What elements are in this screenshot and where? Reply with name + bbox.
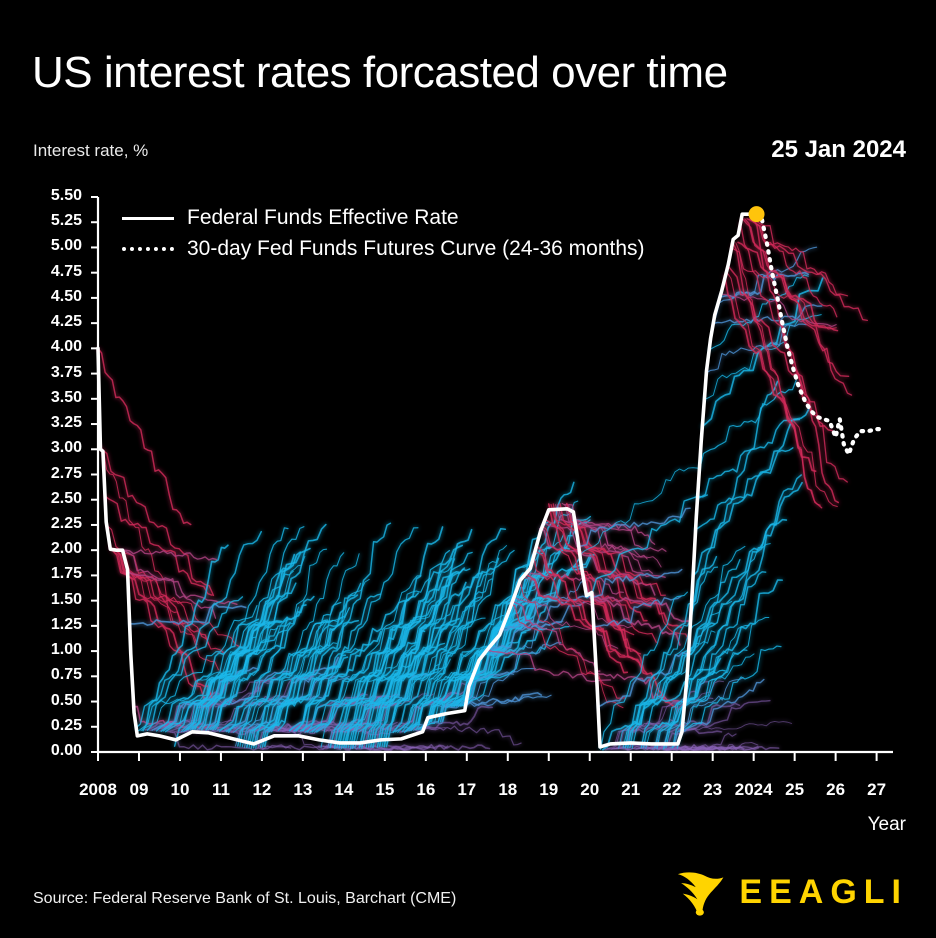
y-tick-label: 1.50 (30, 591, 82, 609)
legend-dotted-line-icon (122, 247, 174, 251)
legend-solid-line-icon (122, 217, 174, 220)
chart-legend: Federal Funds Effective Rate 30-day Fed … (122, 206, 645, 261)
brand-lockup: EEAGLI (673, 866, 908, 918)
y-tick-label: 2.25 (30, 515, 82, 533)
brand-name: EEAGLI (739, 875, 908, 909)
chart-page: US interest rates forcasted over time In… (0, 0, 936, 938)
y-tick-label: 0.75 (30, 666, 82, 684)
y-tick-label: 4.25 (30, 313, 82, 331)
page-title: US interest rates forcasted over time (32, 48, 728, 98)
y-tick-label: 5.00 (30, 237, 82, 255)
y-tick-label: 2.75 (30, 465, 82, 483)
legend-label-futures: 30-day Fed Funds Futures Curve (24-36 mo… (187, 237, 645, 261)
y-tick-label: 3.00 (30, 439, 82, 457)
eagle-icon (673, 866, 725, 918)
y-tick-label: 0.25 (30, 717, 82, 735)
legend-label-actual: Federal Funds Effective Rate (187, 206, 459, 230)
date-stamp: 25 Jan 2024 (771, 136, 906, 164)
y-axis-title: Interest rate, % (33, 141, 148, 161)
y-tick-label: 0.00 (30, 742, 82, 760)
legend-item-futures: 30-day Fed Funds Futures Curve (24-36 mo… (122, 237, 645, 261)
y-tick-label: 4.75 (30, 263, 82, 281)
y-tick-label: 5.25 (30, 212, 82, 230)
y-tick-label: 2.00 (30, 540, 82, 558)
y-tick-label: 3.50 (30, 389, 82, 407)
y-tick-label: 5.50 (30, 187, 82, 205)
y-tick-label: 2.50 (30, 490, 82, 508)
x-axis-title: Year (868, 814, 906, 836)
x-tick-label: 27 (847, 780, 907, 800)
y-tick-label: 1.25 (30, 616, 82, 634)
y-tick-label: 3.75 (30, 364, 82, 382)
y-tick-label: 1.75 (30, 565, 82, 583)
legend-item-actual: Federal Funds Effective Rate (122, 206, 645, 230)
y-tick-label: 4.00 (30, 338, 82, 356)
y-tick-label: 1.00 (30, 641, 82, 659)
y-tick-label: 3.25 (30, 414, 82, 432)
y-tick-label: 4.50 (30, 288, 82, 306)
y-tick-label: 0.50 (30, 692, 82, 710)
source-note: Source: Federal Reserve Bank of St. Loui… (33, 890, 456, 908)
